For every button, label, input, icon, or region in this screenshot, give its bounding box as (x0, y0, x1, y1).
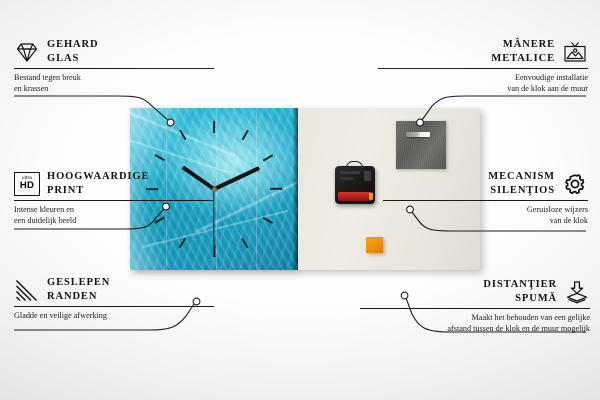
feature-title: GEHARDGLAS (47, 38, 99, 65)
feature-divider (14, 306, 214, 307)
clock-tick-12 (213, 121, 215, 133)
feature-header: GEHARDGLAS (14, 38, 214, 65)
glass-highlight (130, 137, 228, 173)
ultra-hd-icon: ultra HD (14, 172, 40, 196)
feature-metal-hangers: MÂNEREMETALICE Eenvoudige installatievan… (378, 38, 588, 94)
beveled-edge-icon (14, 278, 40, 302)
feature-silent-mechanism: MECANISMSILENŢIOS Geruisloze wijzersvan … (383, 170, 588, 226)
hanger-slot (406, 132, 430, 137)
feature-divider (383, 200, 588, 201)
glass-seam (256, 108, 257, 270)
feature-divider (14, 68, 214, 69)
feature-tempered-glass: GEHARDGLAS Bestand tegen breuken krassen (14, 38, 214, 94)
feature-header: DISTANŢIERSPUMĂ (360, 278, 590, 305)
gear-icon (562, 172, 588, 196)
feature-subtitle: Gladde en veilige afwerking (14, 310, 214, 321)
feature-title: MÂNEREMETALICE (491, 38, 555, 65)
clock-tick-2 (263, 154, 273, 161)
clock-tick-7 (179, 238, 186, 248)
feature-polished-edges: GESLEPENRANDEN Gladde en veilige afwerki… (14, 276, 214, 321)
mechanism-detail (340, 177, 353, 180)
glass-highlight (130, 108, 236, 157)
ultra-hd-icon-bottom-text: HD (20, 181, 34, 191)
feature-title: GESLEPENRANDEN (47, 276, 110, 303)
feature-divider (14, 200, 214, 201)
clock-tick-6 (213, 245, 215, 257)
clock-tick-5 (242, 238, 249, 248)
clock-tick-1 (242, 130, 249, 140)
clock-tick-10 (155, 154, 165, 161)
feature-header: MÂNEREMETALICE (378, 38, 588, 65)
foam-spacer (366, 237, 383, 253)
framed-picture-icon (562, 40, 588, 64)
mechanism-detail (340, 171, 360, 174)
feature-divider (378, 68, 588, 69)
metal-hanger-plate (396, 121, 446, 169)
feature-header: ultra HD HOOGWAARDIGEPRINT (14, 170, 214, 197)
mechanism-hanging-loop (346, 161, 363, 169)
battery (338, 192, 372, 201)
feature-subtitle: Eenvoudige installatievan de klok aan de… (378, 72, 588, 94)
feature-subtitle: Intense kleuren eneen duidelijk beeld (14, 204, 214, 226)
clock-tick-4 (263, 217, 273, 224)
feature-subtitle: Bestand tegen breuken krassen (14, 72, 214, 94)
arrow-press-stack-icon (564, 280, 590, 304)
diamond-icon (14, 40, 40, 64)
feature-title: HOOGWAARDIGEPRINT (47, 170, 149, 197)
mechanism-detail (364, 171, 371, 181)
battery-terminal (369, 193, 373, 200)
feature-print-quality: ultra HD HOOGWAARDIGEPRINT Intense kleur… (14, 170, 214, 226)
feature-header: GESLEPENRANDEN (14, 276, 214, 303)
infographic-canvas: GEHARDGLAS Bestand tegen breuken krassen… (0, 0, 600, 400)
feature-header: MECANISMSILENŢIOS (383, 170, 588, 197)
clock-mechanism (335, 166, 375, 204)
clock-tick-3 (270, 188, 282, 190)
feature-subtitle: Maakt het behouden van een gelijkeafstan… (360, 312, 590, 334)
feature-divider (360, 308, 590, 309)
feature-title: DISTANŢIERSPUMĂ (483, 278, 557, 305)
feature-foam-spacer: DISTANŢIERSPUMĂ Maakt het behouden van e… (360, 278, 590, 334)
feature-title: MECANISMSILENŢIOS (488, 170, 555, 197)
feature-subtitle: Geruisloze wijzersvan de klok (383, 204, 588, 226)
